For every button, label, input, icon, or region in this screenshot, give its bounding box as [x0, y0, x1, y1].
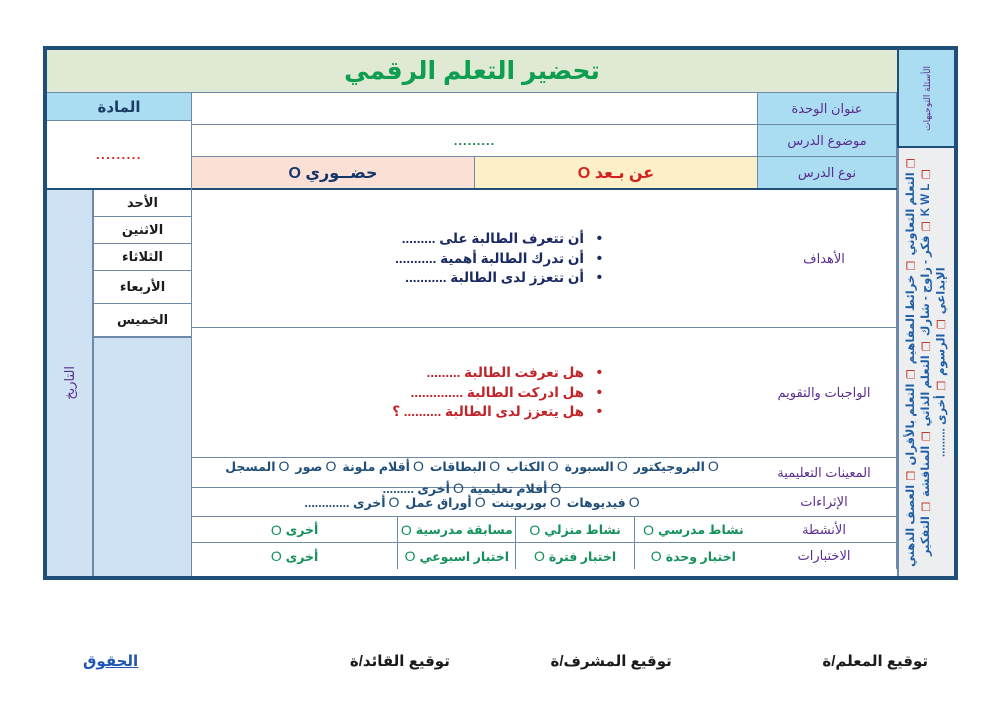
aid-option-label-5: صور — [295, 459, 322, 474]
tests-row: الاختبارات اختبار وحدةOاختبار فترةOاختبا… — [192, 543, 897, 569]
strategy-label-4: K W L — [920, 184, 932, 220]
header-rows: عنوان الوحدة موضوع الدرس ......... نوع ا… — [192, 93, 897, 190]
unit-title-value[interactable] — [192, 93, 757, 124]
day-cell-3[interactable]: الأربعاء — [93, 271, 191, 304]
activities-row: الأنشطة نشاط مدرسيOنشاط منزليOمسابقة مدر… — [192, 517, 897, 543]
days-list: الأحدالاثنينالثلاثاءالأربعاءالخميس — [93, 190, 191, 576]
activity-option-label-2: مسابقة مدرسية — [416, 522, 513, 537]
tests-options: اختبار وحدةOاختبار فترةOاختبار اسبوعيOأخ… — [192, 543, 752, 569]
strategy-checkbox-8[interactable]: ❑ — [920, 500, 932, 516]
activity-option-marker-2[interactable]: O — [401, 522, 412, 538]
enrichment-option-3[interactable]: Oأخرى ............. — [304, 494, 399, 510]
strategy-checkbox-5[interactable]: ❑ — [920, 220, 932, 236]
activity-option-3[interactable]: أخرىO — [192, 517, 397, 542]
day-cell-1[interactable]: الاثنين — [93, 217, 191, 244]
aid-option-label-3: البطاقات — [430, 459, 486, 474]
strategy-label-0: التعلم التعاوني — [905, 173, 917, 259]
aid-option-marker-2[interactable]: O — [548, 458, 559, 474]
aid-option-marker-6[interactable]: O — [278, 458, 289, 474]
activity-option-1[interactable]: نشاط منزليO — [515, 517, 633, 542]
goals-row: الأهداف أن تتعرف الطالبة على .........أن… — [192, 190, 897, 328]
aids-label: المعينات التعليمية — [752, 458, 897, 487]
test-option-marker-3[interactable]: O — [271, 548, 282, 564]
strategies-list: ❑ التعلم التعاوني ❑ خرائط المفاهيم ❑ الت… — [904, 150, 950, 574]
strategy-checkbox-3[interactable]: ❑ — [905, 469, 917, 485]
aid-option-marker-0[interactable]: O — [708, 458, 719, 474]
aid-option-0[interactable]: Oالبروجيكتور — [634, 458, 719, 474]
enrichment-option-1[interactable]: Oبوربوينت — [492, 494, 561, 510]
rights-link[interactable]: الحقوق — [43, 652, 294, 670]
lesson-plan-sheet: الأسئلة التوجيهات ❑ التعلم التعاوني ❑ خر… — [43, 46, 958, 580]
test-option-label-3: أخرى — [286, 549, 319, 564]
activity-option-marker-3[interactable]: O — [271, 522, 282, 538]
test-option-label-1: اختبار فترة — [549, 549, 616, 564]
leader-signature-label: توقيع القائد/ة — [294, 652, 505, 670]
sheet-main: تحضير التعلم الرقمي عنوان الوحدة موضوع ا… — [47, 50, 897, 576]
strategy-checkbox-7[interactable]: ❑ — [920, 430, 932, 446]
test-option-0[interactable]: اختبار وحدةO — [634, 543, 752, 569]
lesson-type-row: نوع الدرس عن بـعد O حضــوري O — [192, 157, 897, 190]
test-option-marker-2[interactable]: O — [405, 548, 416, 564]
assessment-item-2: هل يتعزز لدى الطالبة .......... ؟ — [202, 402, 602, 422]
test-option-1[interactable]: اختبار فترةO — [515, 543, 633, 569]
document-title-bar: تحضير التعلم الرقمي — [47, 50, 897, 93]
unit-title-row: عنوان الوحدة — [192, 93, 897, 125]
assessment-label: الواجبات والتقويم — [752, 328, 897, 457]
strategy-label-2: التعلم بالأقران — [905, 384, 917, 469]
strategy-checkbox-10[interactable]: ❑ — [935, 379, 947, 395]
strategy-label-6: التعلم الذاتي — [920, 356, 932, 430]
enrichment-value: OفيديوهاتOبوربوينتOأوراق عملOأخرى ......… — [192, 488, 752, 516]
lesson-topic-value[interactable]: ......... — [192, 125, 757, 156]
header-block: عنوان الوحدة موضوع الدرس ......... نوع ا… — [47, 93, 897, 190]
aid-option-3[interactable]: Oالبطاقات — [430, 458, 500, 474]
strategy-label-10: أخرى ......... — [935, 395, 947, 457]
test-option-2[interactable]: اختبار اسبوعيO — [397, 543, 515, 569]
activity-option-marker-0[interactable]: O — [643, 522, 654, 538]
subject-value[interactable]: ......... — [47, 121, 191, 190]
strategy-checkbox-6[interactable]: ❑ — [920, 340, 932, 356]
strategy-label-3: العصف الذهني — [905, 485, 917, 567]
tests-label: الاختبارات — [752, 543, 897, 569]
goal-item-0: أن تتعرف الطالبة على ......... — [202, 229, 602, 249]
day-cell-2[interactable]: الثلاثاء — [93, 244, 191, 271]
lesson-topic-row: موضوع الدرس ......... — [192, 125, 897, 157]
enrichment-option-label-3: أخرى ............. — [304, 495, 385, 510]
date-label: التاريخ — [62, 366, 77, 400]
strategy-label-7: المناقشة — [920, 446, 932, 500]
aid-option-4[interactable]: Oأقلام ملونة — [342, 458, 423, 474]
lesson-type-options: عن بـعد O حضــوري O — [192, 157, 757, 188]
strategy-label-1: خرائط المفاهيم — [905, 275, 917, 368]
assessment-list: هل تعرفت الطالبة .........هل ادركت الطال… — [202, 332, 742, 453]
aid-option-6[interactable]: Oالمسجل — [225, 458, 289, 474]
activity-option-label-0: نشاط مدرسي — [658, 522, 744, 537]
enrichment-option-2[interactable]: Oأوراق عمل — [405, 494, 485, 510]
goal-item-2: أن تتعزز لدى الطالبة ........... — [202, 268, 602, 288]
enrichment-option-label-2: أوراق عمل — [405, 495, 471, 510]
assessment-row: الواجبات والتقويم هل تعرفت الطالبة .....… — [192, 328, 897, 458]
assessment-item-1: هل ادركت الطالبة .............. — [202, 383, 602, 403]
aid-option-label-6: المسجل — [225, 459, 275, 474]
guiding-questions-header: الأسئلة التوجيهات — [897, 50, 954, 148]
enrichment-row: الإثراءات OفيديوهاتOبوربوينتOأوراق عملOأ… — [192, 488, 897, 517]
aid-option-marker-1[interactable]: O — [617, 458, 628, 474]
aid-option-label-0: البروجيكتور — [634, 459, 705, 474]
enrichment-option-label-0: فيديوهات — [567, 495, 626, 510]
unit-title-label: عنوان الوحدة — [757, 93, 897, 124]
activity-option-label-3: أخرى — [286, 522, 319, 537]
strategy-checkbox-9[interactable]: ❑ — [935, 317, 947, 333]
enrichment-option-marker-0[interactable]: O — [629, 494, 640, 510]
aid-option-marker-5[interactable]: O — [326, 458, 337, 474]
aid-option-5[interactable]: Oصور — [295, 458, 336, 474]
lesson-type-label: نوع الدرس — [757, 157, 897, 188]
strategy-label-5: فكر - زاوج - شارك — [920, 236, 932, 340]
activity-option-marker-1[interactable]: O — [529, 522, 540, 538]
lesson-type-onsite-option[interactable]: حضــوري O — [192, 157, 474, 188]
assessment-item-0: هل تعرفت الطالبة ......... — [202, 363, 602, 383]
goals-label: الأهداف — [752, 190, 897, 327]
test-option-3[interactable]: أخرىO — [192, 543, 397, 569]
enrichment-option-marker-2[interactable]: O — [475, 494, 486, 510]
test-option-label-2: اختبار اسبوعي — [420, 549, 510, 564]
aid-option-label-2: الكتاب — [506, 459, 545, 474]
subject-column: المادة ......... — [47, 93, 192, 190]
content-column: الأهداف أن تتعرف الطالبة على .........أن… — [192, 190, 897, 576]
strategy-checkbox-0[interactable]: ❑ — [905, 157, 917, 173]
assessment-value[interactable]: هل تعرفت الطالبة .........هل ادركت الطال… — [192, 328, 752, 457]
test-option-marker-0[interactable]: O — [651, 548, 662, 564]
lesson-type-remote-option[interactable]: عن بـعد O — [474, 157, 757, 188]
aid-option-2[interactable]: Oالكتاب — [506, 458, 559, 474]
enrichment-option-marker-1[interactable]: O — [550, 494, 561, 510]
enrichment-option-0[interactable]: Oفيديوهات — [567, 494, 640, 510]
lesson-topic-label: موضوع الدرس — [757, 125, 897, 156]
day-cell-4[interactable]: الخميس — [93, 304, 191, 337]
enrichment-label: الإثراءات — [752, 488, 897, 516]
aids-value: OالبروجيكتورOالسبورةOالكتابOالبطاقاتOأقل… — [192, 458, 752, 487]
strategy-checkbox-1[interactable]: ❑ — [905, 259, 917, 275]
activities-options: نشاط مدرسيOنشاط منزليOمسابقة مدرسيةOأخرى… — [192, 517, 752, 542]
teacher-signature-label: توقيع المعلم/ة — [717, 652, 958, 670]
aid-option-marker-3[interactable]: O — [489, 458, 500, 474]
aids-options: OالبروجيكتورOالسبورةOالكتابOالبطاقاتOأقل… — [192, 458, 752, 487]
day-date-column: الأحدالاثنينالثلاثاءالأربعاءالخميس التار… — [47, 190, 192, 576]
aid-option-label-1: السبورة — [565, 459, 614, 474]
day-cell-0[interactable]: الأحد — [93, 190, 191, 217]
test-option-label-0: اختبار وحدة — [666, 549, 736, 564]
guiding-questions-label: الأسئلة التوجيهات — [922, 66, 932, 131]
enrichment-option-marker-3[interactable]: O — [389, 494, 400, 510]
date-vertical-strip: التاريخ — [47, 190, 93, 576]
activity-option-0[interactable]: نشاط مدرسيO — [634, 517, 752, 542]
strategy-label-9: الرسوم — [935, 333, 947, 379]
strategy-checkbox-4[interactable]: ❑ — [920, 168, 932, 184]
enrichment-options: OفيديوهاتOبوربوينتOأوراق عملOأخرى ......… — [192, 488, 752, 516]
aids-row: المعينات التعليمية OالبروجيكتورOالسبورةO… — [192, 458, 897, 488]
day-column-filler — [93, 337, 191, 576]
activities-value: نشاط مدرسيOنشاط منزليOمسابقة مدرسيةOأخرى… — [192, 517, 752, 542]
strategies-strip: الأسئلة التوجيهات ❑ التعلم التعاوني ❑ خر… — [897, 50, 954, 576]
aid-option-1[interactable]: Oالسبورة — [565, 458, 628, 474]
strategies-list-panel: ❑ التعلم التعاوني ❑ خرائط المفاهيم ❑ الت… — [897, 148, 954, 576]
signature-row: توقيع المعلم/ة توقيع المشرف/ة توقيع القا… — [43, 652, 958, 670]
activity-option-2[interactable]: مسابقة مدرسيةO — [397, 517, 515, 542]
lesson-topic-placeholder-dots: ......... — [454, 133, 496, 148]
goals-list: أن تتعرف الطالبة على .........أن تدرك ال… — [202, 194, 742, 323]
goal-item-1: أن تدرك الطالبة أهمية ........... — [202, 249, 602, 269]
supervisor-signature-label: توقيع المشرف/ة — [506, 652, 717, 670]
aid-option-marker-4[interactable]: O — [413, 458, 424, 474]
tests-value: اختبار وحدةOاختبار فترةOاختبار اسبوعيOأخ… — [192, 543, 752, 569]
subject-label: المادة — [47, 93, 191, 121]
sheet-body: الأهداف أن تتعرف الطالبة على .........أن… — [47, 190, 897, 576]
activities-label: الأنشطة — [752, 517, 897, 542]
strategy-checkbox-2[interactable]: ❑ — [905, 368, 917, 384]
enrichment-option-label-1: بوربوينت — [492, 495, 547, 510]
aid-option-label-4: أقلام ملونة — [342, 459, 410, 474]
activity-option-label-1: نشاط منزلي — [544, 522, 621, 537]
subject-placeholder-dots: ......... — [96, 147, 142, 162]
page-title: تحضير التعلم الرقمي — [344, 56, 600, 86]
test-option-marker-1[interactable]: O — [534, 548, 545, 564]
goals-value[interactable]: أن تتعرف الطالبة على .........أن تدرك ال… — [192, 190, 752, 327]
